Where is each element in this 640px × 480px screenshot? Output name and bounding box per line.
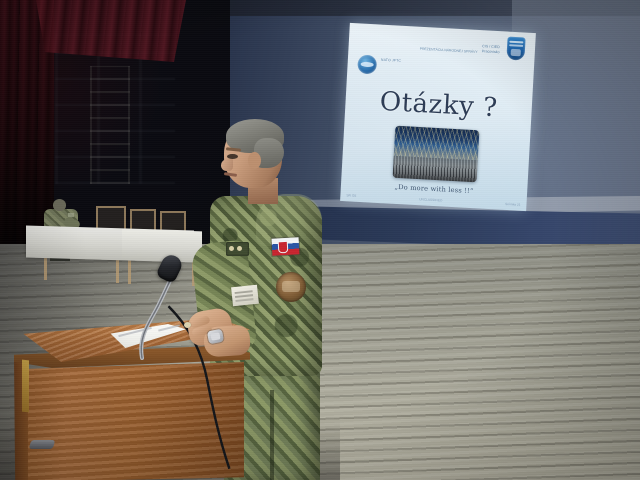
table-leg	[128, 260, 131, 284]
table-leg	[116, 259, 119, 283]
blue-shield-icon	[506, 37, 525, 61]
slide-title: Otázky ?	[345, 85, 533, 125]
slide-emblem-icon	[357, 54, 377, 74]
unit-crest-patch	[276, 272, 306, 302]
rank-insignia	[226, 242, 249, 256]
seated-soldier-patch	[68, 213, 74, 217]
slide-footer-center: UNCLASSIFIED	[419, 197, 442, 202]
photo-scene: NATO JFTC PREZENTÁCIA NÁRODNEJ SPRÁVY CI…	[0, 0, 640, 480]
slovak-flag-patch	[272, 237, 300, 255]
slide-footer-left: SR OS	[346, 193, 356, 198]
slide-footer-right: Snímka 21	[505, 202, 520, 207]
slide-photo	[393, 126, 480, 183]
table-leg	[44, 256, 47, 280]
microphone-base	[29, 440, 56, 449]
draped-table	[122, 229, 202, 262]
slide-header-right: CIS / CIED Pracovisko	[475, 44, 508, 55]
stage-curtain-valance	[36, 0, 186, 62]
slide-photo-rays	[394, 126, 480, 161]
projected-slide: NATO JFTC PREZENTÁCIA NÁRODNEJ SPRÁVY CI…	[340, 23, 536, 211]
stage-ladder	[90, 66, 130, 184]
speaker-leg-seam	[270, 390, 274, 480]
seated-soldier-head	[53, 199, 66, 211]
slide-photo-crowd	[393, 156, 478, 183]
finger-ring	[184, 322, 191, 328]
slide-logo-text: NATO JFTC	[381, 58, 411, 64]
speaker-nose	[221, 159, 233, 171]
speaker-ear	[248, 152, 261, 169]
lectern-trim	[22, 360, 29, 413]
